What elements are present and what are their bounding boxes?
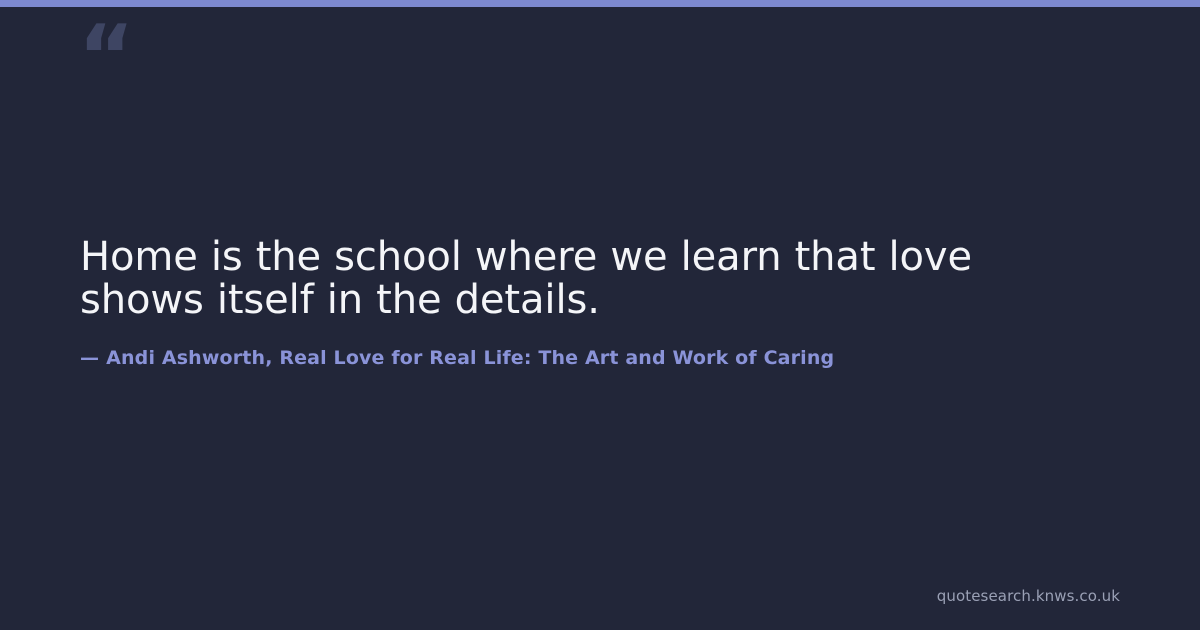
quote-card: “ Home is the school where we learn that… bbox=[0, 0, 1200, 630]
attribution-dash: — bbox=[80, 347, 99, 369]
quote-text: Home is the school where we learn that l… bbox=[80, 236, 1080, 322]
attribution-author: Andi Ashworth bbox=[106, 347, 265, 369]
open-quote-icon: “ bbox=[78, 14, 133, 100]
top-accent-bar bbox=[0, 0, 1200, 7]
quote-attribution: —Andi Ashworth, Real Love for Real Life:… bbox=[80, 345, 1120, 371]
site-watermark: quotesearch.knws.co.uk bbox=[937, 586, 1120, 606]
attribution-separator: , bbox=[265, 347, 279, 369]
attribution-source: Real Love for Real Life: The Art and Wor… bbox=[279, 347, 834, 369]
